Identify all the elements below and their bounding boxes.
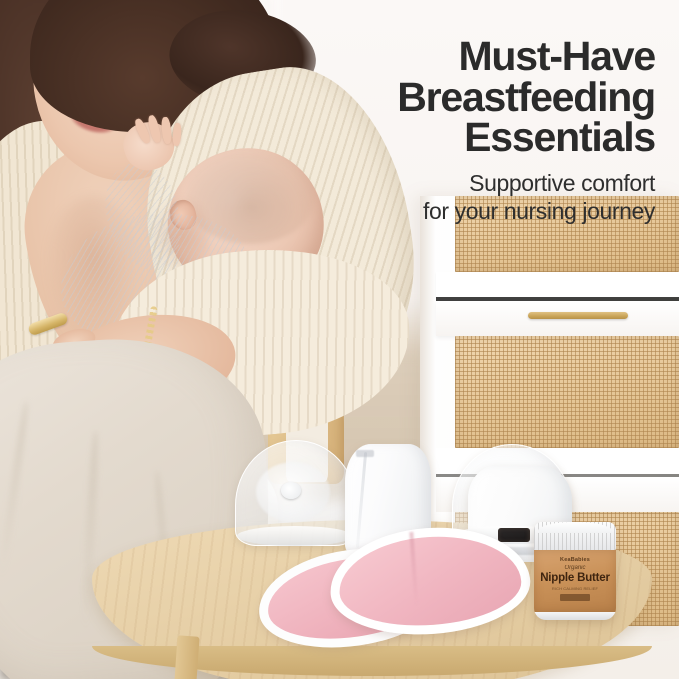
- jar-seal-chip: [560, 594, 590, 601]
- gold-drawer-handle: [528, 312, 628, 319]
- breast-shell-valve-icon: [281, 482, 301, 499]
- nipple-butter-jar: KeaBabies Organic Nipple Butter RICH CAL…: [534, 522, 616, 620]
- jar-base: [534, 612, 616, 620]
- subhead-line-2: for your nursing journey: [325, 197, 655, 225]
- jar-lid-top: [538, 522, 612, 533]
- subtitle: Supportive comfort for your nursing jour…: [325, 169, 655, 225]
- headline-line-3: Essentials: [325, 117, 655, 158]
- marketing-copy-block: Must-Have Breastfeeding Essentials Suppo…: [325, 36, 655, 225]
- cane-panel-middle: [455, 336, 679, 448]
- product-banner: KeaBabies Organic Nipple Butter RICH CAL…: [0, 0, 679, 679]
- jar-product-name: Nipple Butter: [534, 572, 616, 584]
- jar-descriptor: Organic: [534, 565, 616, 571]
- table-leg: [174, 635, 199, 679]
- page-title: Must-Have Breastfeeding Essentials: [325, 36, 655, 158]
- headline-line-1: Must-Have: [325, 36, 655, 77]
- dresser-rail-upper: [436, 272, 679, 298]
- breast-shell-left-rim: [237, 526, 353, 546]
- subhead-line-1: Supportive comfort: [325, 169, 655, 197]
- jar-brand-name: KeaBabies: [534, 557, 616, 563]
- pump-display-screen: [498, 528, 530, 542]
- headline-line-2: Breastfeeding: [325, 77, 655, 118]
- jar-fine-print: RICH CALMING RELIEF: [534, 586, 616, 591]
- jar-label: KeaBabies Organic Nipple Butter RICH CAL…: [534, 550, 616, 612]
- collector-badge: [356, 450, 374, 457]
- jar-lid: [534, 522, 616, 550]
